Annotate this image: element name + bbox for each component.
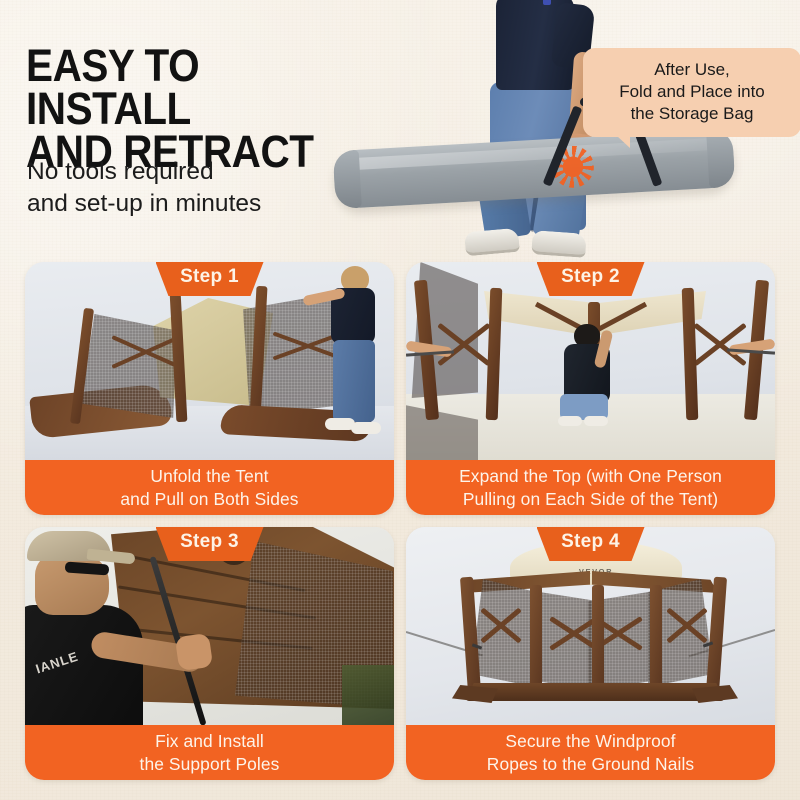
page-subtitle: No tools required and set-up in minutes	[27, 156, 357, 220]
step-3-caption: Fix and Install the Support Poles	[25, 725, 394, 780]
storage-bag	[333, 129, 736, 209]
storage-bag-callout: After Use, Fold and Place into the Stora…	[583, 48, 800, 137]
step-card-3[interactable]: IANLE Step 3 Fix and Install the Support…	[25, 527, 394, 780]
tent-ground-skirt	[466, 683, 724, 701]
person-shoe	[584, 416, 608, 426]
step-4-caption: Secure the Windproof Ropes to the Ground…	[406, 725, 775, 780]
person-left-shoe	[464, 228, 520, 257]
storage-bag-right-end	[706, 129, 735, 188]
step-1-photo: Step 1	[25, 262, 394, 460]
person-crouching-inside-tent	[556, 324, 620, 428]
grass-background	[342, 665, 394, 725]
person-right-shoe	[531, 230, 587, 258]
tshirt-chest-badge	[543, 0, 551, 5]
person-shoe	[558, 416, 582, 426]
step-card-1[interactable]: Step 1 Unfold the Tent and Pull on Both …	[25, 262, 394, 515]
person-hand-gripping-pole	[175, 633, 213, 671]
step-4-badge: Step 4	[537, 527, 645, 561]
step-1-caption: Unfold the Tent and Pull on Both Sides	[25, 460, 394, 515]
step-2-photo: Step 2	[406, 262, 775, 460]
page-title: EASY TO INSTALL AND RETRACT	[26, 44, 368, 174]
step-3-photo: IANLE Step 3	[25, 527, 394, 725]
step-card-2[interactable]: Step 2 Expand the Top (with One Person P…	[406, 262, 775, 515]
tent-mesh-panel-left	[81, 314, 177, 418]
tent-leg-pole	[650, 585, 662, 695]
hero-section: EASY TO INSTALL AND RETRACT No tools req…	[0, 0, 800, 258]
person-pulling-tent	[307, 264, 389, 442]
person-shoe	[351, 422, 381, 434]
step-2-caption: Expand the Top (with One Person Pulling …	[406, 460, 775, 515]
step-3-badge: Step 3	[156, 527, 264, 561]
step-2-badge: Step 2	[537, 262, 645, 296]
step-1-badge: Step 1	[156, 262, 264, 296]
tent-leg-pole	[592, 585, 604, 695]
tent-leg-pole	[530, 585, 542, 695]
steps-grid: Step 1 Unfold the Tent and Pull on Both …	[25, 262, 775, 780]
step-4-photo: VEVOR Step 4	[406, 527, 775, 725]
person-jeans	[333, 340, 375, 422]
step-card-4[interactable]: VEVOR Step 4	[406, 527, 775, 780]
